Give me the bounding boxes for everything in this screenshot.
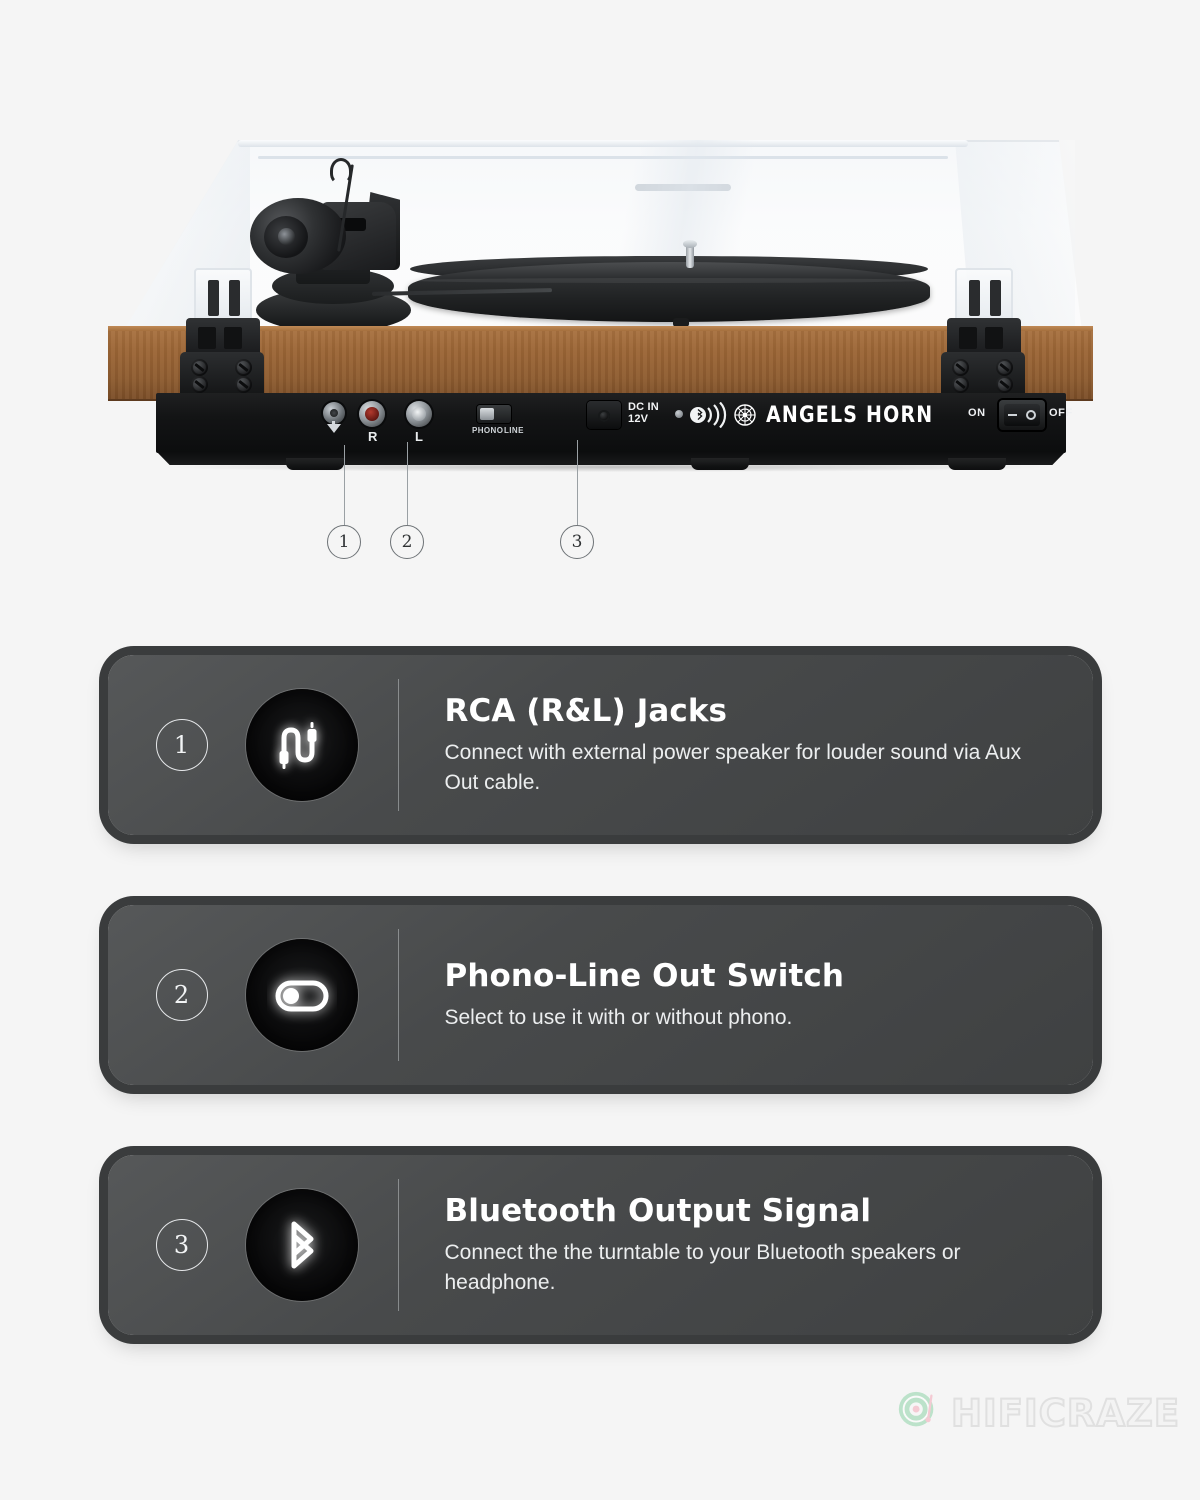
dust-cover-hinge-left: [180, 268, 264, 388]
callout-leader-2: [407, 442, 408, 525]
hinge-mount-plate: [941, 352, 1025, 398]
bluetooth-signal-icon: [687, 402, 733, 428]
hinge-screw: [996, 359, 1013, 376]
feature-card-description: Select to use it with or without phono.: [445, 1003, 1053, 1033]
hinge-screw: [191, 359, 208, 376]
feature-card-description: Connect the the turntable to your Blueto…: [445, 1238, 1053, 1298]
callout-marker-1[interactable]: 1: [327, 525, 361, 559]
infographic-page: R L PHONO LINE DC IN 12V: [0, 0, 1200, 1500]
turntable-illustration: R L PHONO LINE DC IN 12V: [108, 140, 1093, 470]
platter-rim-highlight: [412, 278, 926, 283]
dc-power-jack-icon[interactable]: [587, 401, 621, 429]
callout-leader-1: [344, 445, 345, 525]
callout-marker-3-number: 3: [572, 532, 583, 552]
feature-card-title: Bluetooth Output Signal: [445, 1193, 1053, 1229]
rca-jack-left-center: [412, 407, 426, 421]
watermark-text: HIFICRAZE: [951, 1392, 1180, 1435]
dc-in-label-line2: 12V: [628, 413, 648, 425]
feature-card-text: Phono-Line Out Switch Select to use it w…: [399, 958, 1093, 1033]
phono-line-switch[interactable]: [477, 405, 511, 423]
rca-jack-right-center: [365, 407, 379, 421]
rca-cable-icon: [246, 689, 358, 801]
callout-leader-3: [577, 440, 578, 525]
hinge-clear-bracket: [955, 268, 1013, 324]
callout-marker-1-number: 1: [339, 532, 350, 552]
feature-card-list: 1 RCA (R&L) Jacks Conn: [0, 655, 1200, 1405]
phono-label: PHONO: [472, 426, 503, 435]
feature-card-number-text: 2: [174, 981, 189, 1009]
toggle-switch-icon: [246, 939, 358, 1051]
status-led-icon: [675, 410, 683, 418]
tonearm-rest-hook: [330, 158, 352, 184]
feature-card-number: 1: [156, 719, 208, 771]
power-off-mark: [1026, 410, 1036, 420]
brand-name: ANGELS HORN: [766, 402, 933, 428]
hinge-screw: [952, 376, 969, 393]
rear-connector-panel: R L PHONO LINE DC IN 12V: [156, 393, 1066, 453]
counterweight-hub: [278, 228, 295, 245]
dust-cover-hinge-right: [941, 268, 1025, 388]
feature-card-bluetooth[interactable]: 3 Bluetooth Output Signal Connect the th…: [108, 1155, 1093, 1335]
power-on-label: ON: [968, 407, 986, 419]
drop-shadow: [168, 462, 1048, 472]
power-off-label: OFF: [1049, 407, 1073, 419]
hinge-mount-plate: [180, 352, 264, 398]
rocker-power-switch-icon[interactable]: [999, 400, 1045, 430]
feature-card-rca[interactable]: 1 RCA (R&L) Jacks Conn: [108, 655, 1093, 835]
hinge-screw: [235, 376, 252, 393]
rca-left-label: L: [415, 429, 423, 444]
feature-card-title: RCA (R&L) Jacks: [445, 693, 1053, 729]
ornate-rosette-emblem-icon: [734, 404, 756, 426]
hinge-screw: [235, 359, 252, 376]
callout-marker-2-number: 2: [402, 532, 413, 552]
feature-card-text: RCA (R&L) Jacks Connect with external po…: [399, 693, 1093, 798]
hinge-screw: [996, 376, 1013, 393]
hinge-clear-bracket: [194, 268, 252, 324]
line-label: LINE: [504, 426, 524, 435]
feature-card-number-text: 1: [174, 731, 189, 759]
power-on-mark: [1008, 414, 1017, 416]
feature-card-description: Connect with external power speaker for …: [445, 738, 1053, 798]
feature-card-title: Phono-Line Out Switch: [445, 958, 1053, 994]
ground-symbol-arrow: [327, 424, 341, 433]
dc-in-label: DC IN 12V: [628, 401, 659, 425]
rocker-switch-face: [1004, 404, 1040, 426]
vinyl-record-icon: [895, 1388, 941, 1439]
rca-right-label: R: [368, 429, 378, 444]
watermark-logo: HIFICRAZE: [895, 1385, 1145, 1441]
feature-card-text: Bluetooth Output Signal Connect the the …: [399, 1193, 1093, 1298]
callout-marker-3[interactable]: 3: [560, 525, 594, 559]
feature-card-number: 3: [156, 1219, 208, 1271]
rca-jack-right[interactable]: [359, 401, 385, 427]
spindle-cap: [683, 240, 697, 248]
rca-jack-left[interactable]: [406, 401, 432, 427]
callout-marker-2[interactable]: 2: [390, 525, 424, 559]
feature-card-phono-line[interactable]: 2 Phono-Line Out Switch Select to use it…: [108, 905, 1093, 1085]
bluetooth-icon: [246, 1189, 358, 1301]
brand-logo: ANGELS HORN: [734, 401, 944, 429]
product-hero-image: R L PHONO LINE DC IN 12V: [0, 0, 1200, 600]
hinge-screw: [191, 376, 208, 393]
hinge-screw: [952, 359, 969, 376]
feature-card-number-text: 3: [174, 1231, 189, 1259]
feature-card-number: 2: [156, 969, 208, 1021]
dc-in-label-line1: DC IN: [628, 401, 659, 413]
